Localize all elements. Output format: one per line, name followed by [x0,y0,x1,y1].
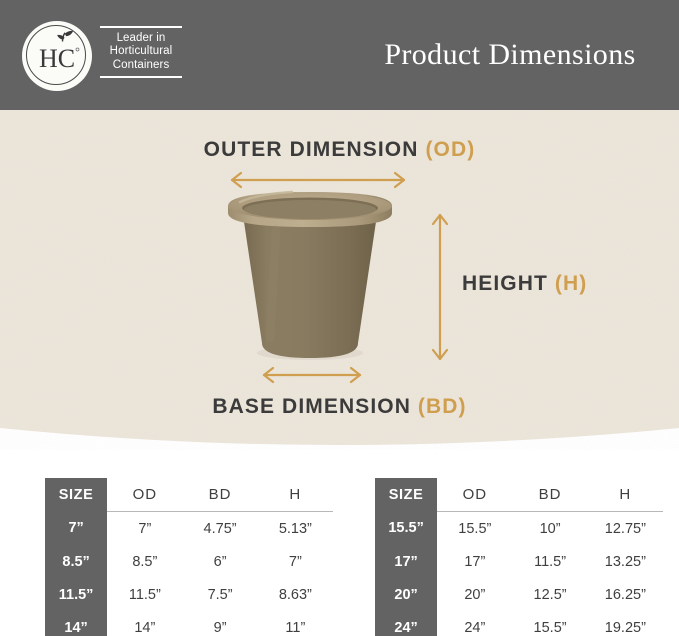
height-label: HEIGHT (H) [462,272,587,296]
table-header-row: SIZEODBDH [375,478,663,512]
cell-od: 14” [107,611,182,636]
base-dimension-code: (BD) [418,395,467,418]
page-title: Product Dimensions [360,0,660,110]
tagline-line-2: Horticultural [100,45,182,59]
column-header-bd: BD [182,478,257,512]
column-header-bd: BD [512,478,587,512]
cell-size: 20” [375,578,437,611]
tagline-line-1: Leader in [100,32,182,46]
cell-size: 17” [375,545,437,578]
size-table-right: SIZEODBDH 15.5”15.5”10”12.75”17”17”11.5”… [375,478,663,636]
cell-size: 7” [45,512,107,546]
cell-bd: 15.5” [512,611,587,636]
cell-od: 8.5” [107,545,182,578]
base-dimension-label: BASE DIMENSION (BD) [0,395,679,419]
table-header-row: SIZEODBDH [45,478,333,512]
logo-tagline-block: Leader in Horticultural Containers [100,26,182,78]
outer-dimension-label: OUTER DIMENSION (OD) [0,138,679,162]
column-header-size: SIZE [375,478,437,512]
tagline-line-3: Containers [100,59,182,73]
cell-h: 8.63” [258,578,333,611]
cell-od: 11.5” [107,578,182,611]
height-code: (H) [555,272,587,295]
cell-bd: 6” [182,545,257,578]
column-header-h: H [258,478,333,512]
table-body: 7”7”4.75”5.13”8.5”8.5”6”7”11.5”11.5”7.5”… [45,512,333,636]
cell-h: 12.75” [588,512,663,546]
cell-od: 7” [107,512,182,546]
table-row: 20”20”12.5”16.25” [375,578,663,611]
column-header-size: SIZE [45,478,107,512]
size-table-left: SIZEODBDH 7”7”4.75”5.13”8.5”8.5”6”7”11.5… [45,478,333,636]
cell-od: 20” [437,578,512,611]
cell-od: 24” [437,611,512,636]
cell-size: 15.5” [375,512,437,546]
cell-h: 16.25” [588,578,663,611]
outer-dimension-text: OUTER DIMENSION [204,138,419,161]
logo-rule-bottom [100,76,182,78]
cell-size: 8.5” [45,545,107,578]
diagram-panel: OUTER DIMENSION (OD) HEIGHT (H) BASE DIM… [0,110,679,450]
table-row: 24”24”15.5”19.25” [375,611,663,636]
table-row: 14”14”9”11” [45,611,333,636]
logo-tagline-text: Leader in Horticultural Containers [100,28,182,77]
cell-h: 19.25” [588,611,663,636]
outer-dimension-code: (OD) [425,138,475,161]
column-header-od: OD [107,478,182,512]
cell-bd: 9” [182,611,257,636]
cell-size: 24” [375,611,437,636]
cell-bd: 11.5” [512,545,587,578]
base-dimension-text: BASE DIMENSION [212,395,411,418]
cell-h: 13.25” [588,545,663,578]
column-header-h: H [588,478,663,512]
height-text: HEIGHT [462,272,548,295]
cell-od: 15.5” [437,512,512,546]
product-dimensions-infographic: HC Leader in Horticultural Containers Pr… [0,0,679,636]
cell-bd: 12.5” [512,578,587,611]
column-header-od: OD [437,478,512,512]
logo-monogram: HC [22,21,92,91]
cell-h: 11” [258,611,333,636]
table-row: 7”7”4.75”5.13” [45,512,333,546]
cell-size: 11.5” [45,578,107,611]
cell-od: 17” [437,545,512,578]
table-body: 15.5”15.5”10”12.75”17”17”11.5”13.25”20”2… [375,512,663,636]
table-row: 8.5”8.5”6”7” [45,545,333,578]
cell-bd: 4.75” [182,512,257,546]
table-row: 17”17”11.5”13.25” [375,545,663,578]
header-bar: HC Leader in Horticultural Containers Pr… [0,0,679,110]
hc-logo: HC [22,21,92,91]
table-row: 15.5”15.5”10”12.75” [375,512,663,546]
cell-h: 7” [258,545,333,578]
table-row: 11.5”11.5”7.5”8.63” [45,578,333,611]
cell-bd: 7.5” [182,578,257,611]
cell-bd: 10” [512,512,587,546]
cell-size: 14” [45,611,107,636]
cell-h: 5.13” [258,512,333,546]
